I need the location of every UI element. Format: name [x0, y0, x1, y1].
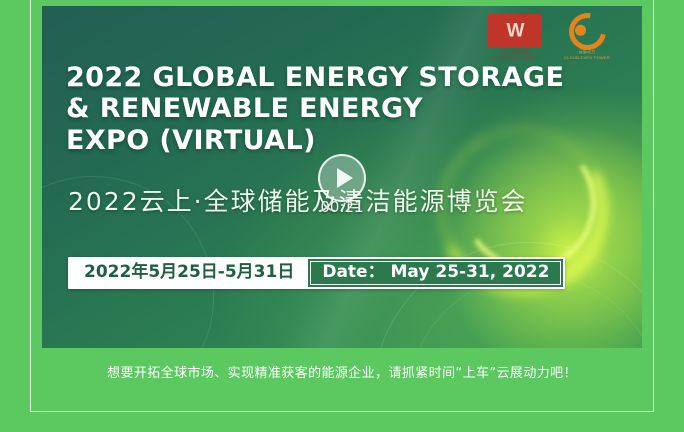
banner-headline: 2022 GLOBAL ENERGY STORAGE & RENEWABLE E…: [66, 62, 626, 156]
headline-line-1: 2022 GLOBAL ENERGY STORAGE: [66, 62, 626, 93]
frame-border-left: [30, 0, 31, 412]
banner-subtitle: 2022云上·全球储能及清洁能源博览会: [68, 182, 528, 218]
promo-caption: 想要开拓全球市场、实现精准获客的能源企业，请抓紧时间“上车”云展动力吧！: [42, 362, 642, 381]
wings-logo-caption-en: WANWEI NEW ENERGY: [488, 55, 542, 60]
cloud-expo-logo-mark: [560, 14, 614, 48]
video-banner[interactable]: W 西安万威新能源 WANWEI NEW ENERGY 云展动力 CLOUD E…: [42, 6, 642, 348]
page-root: W 西安万威新能源 WANWEI NEW ENERGY 云展动力 CLOUD E…: [0, 0, 684, 432]
frame-border-right: [653, 0, 654, 412]
event-date-bar: 2022年5月25日-5月31日 Date： May 25-31, 2022: [68, 257, 565, 289]
headline-line-2: & RENEWABLE ENERGY: [66, 93, 626, 124]
cloud-expo-logo: 云展动力 CLOUD EXPO POWER: [560, 14, 614, 61]
wings-logo: W 西安万威新能源 WANWEI NEW ENERGY: [488, 14, 542, 61]
event-date-cn: 2022年5月25日-5月31日: [70, 259, 308, 287]
cloud-expo-caption-en: CLOUD EXPO POWER: [560, 55, 614, 60]
event-date-en: Date： May 25-31, 2022: [308, 259, 563, 287]
video-duration: 00:21: [320, 198, 363, 216]
wings-icon: W: [507, 22, 524, 41]
wings-logo-mark: W: [488, 14, 542, 48]
frame-border-bottom: [30, 411, 654, 412]
logo-group: W 西安万威新能源 WANWEI NEW ENERGY 云展动力 CLOUD E…: [488, 14, 614, 61]
play-triangle-icon: [337, 168, 353, 188]
wings-logo-caption-cn: 西安万威新能源: [488, 49, 542, 54]
play-button[interactable]: [318, 154, 366, 202]
headline-line-3: EXPO (VIRTUAL): [66, 125, 626, 156]
